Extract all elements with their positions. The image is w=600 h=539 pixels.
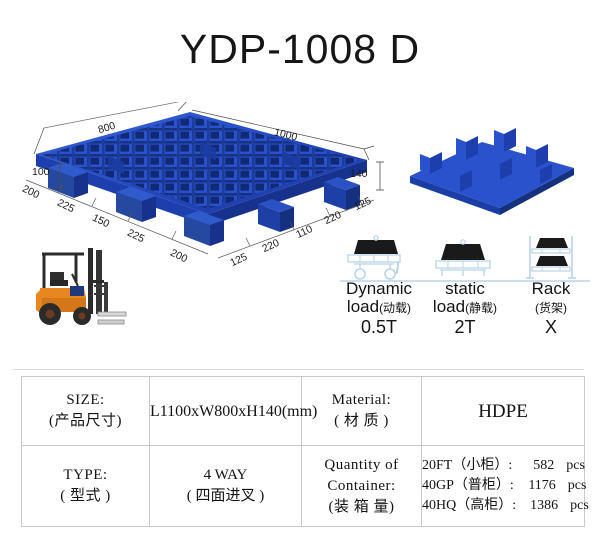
section-divider [13, 369, 584, 370]
page-title: YDP-1008 D [0, 26, 600, 73]
load-spec-static-label-cn: (静载) [465, 301, 497, 315]
load-spec-rack-label-en: Rack [532, 279, 571, 298]
forklift-photo [26, 236, 131, 341]
load-spec-dynamic: Dynamic load(动载) 0.5T [336, 234, 422, 338]
container-quantity-row: 40HQ（高柜）:1386pcs [422, 496, 589, 516]
load-spec-rack-label: Rack(货架) [508, 280, 594, 317]
table-row: SIZE: (产品尺寸) L1100xW800xH140(mm) Materia… [22, 377, 585, 446]
spec-container-label: Quantity of Container: (装 箱 量) [302, 446, 422, 527]
load-spec-group: Dynamic load(动载) 0.5T [336, 234, 594, 354]
load-spec-static-value: 2T [422, 317, 508, 338]
load-spec-static-label: static load(静载) [422, 280, 508, 317]
load-spec-static: static load(静载) 2T [422, 234, 508, 338]
spec-type-value: 4 WAY ( 四面进叉 ) [150, 446, 302, 527]
spec-table: SIZE: (产品尺寸) L1100xW800xH140(mm) Materia… [21, 376, 585, 527]
spec-size-label: SIZE: (产品尺寸) [22, 377, 150, 446]
table-row: TYPE: ( 型式 ) 4 WAY ( 四面进叉 ) Quantity of … [22, 446, 585, 527]
container-type: 20FT（小柜）: [422, 458, 512, 473]
container-qty: 582 [512, 456, 554, 476]
dim-total-height-140: 140 [350, 168, 368, 180]
spec-material-label: Material: ( 材 质 ) [302, 377, 422, 446]
spec-material-value: HDPE [422, 377, 585, 446]
load-spec-dynamic-label-cn: (动载) [379, 301, 411, 315]
container-type: 40GP（普柜）: [422, 478, 514, 493]
static-pallet-icon [422, 234, 508, 280]
spec-container-value: 20FT（小柜）:582pcs40GP（普柜）:1176pcs40HQ（高柜）:… [422, 446, 585, 527]
container-quantity-row: 20FT（小柜）:582pcs [422, 456, 589, 476]
dim-foot-height-100: 100 [32, 166, 50, 178]
spec-size-value: L1100xW800xH140(mm) [150, 377, 302, 446]
container-unit: pcs [556, 478, 587, 493]
load-spec-rack-label-cn: (货架) [535, 301, 567, 315]
container-unit: pcs [554, 458, 585, 473]
load-spec-rack-value: X [508, 317, 594, 338]
container-unit: pcs [558, 498, 589, 513]
rack-icon [508, 234, 594, 280]
container-qty: 1386 [516, 496, 558, 516]
container-type: 40HQ（高柜）: [422, 498, 516, 513]
product-illustration: 800 1000 100 140 200 225 150 225 200 125… [0, 96, 600, 358]
pallet-underside-view [398, 120, 583, 225]
container-quantity-row: 40GP（普柜）:1176pcs [422, 476, 589, 496]
load-spec-dynamic-label: Dynamic load(动载) [336, 280, 422, 317]
container-quantity-list: 20FT（小柜）:582pcs40GP（普柜）:1176pcs40HQ（高柜）:… [422, 456, 589, 516]
load-spec-dynamic-value: 0.5T [336, 317, 422, 338]
hand-truck-icon [336, 234, 422, 280]
load-spec-rack: Rack(货架) X [508, 234, 594, 338]
spec-type-label: TYPE: ( 型式 ) [22, 446, 150, 527]
container-qty: 1176 [514, 476, 556, 496]
